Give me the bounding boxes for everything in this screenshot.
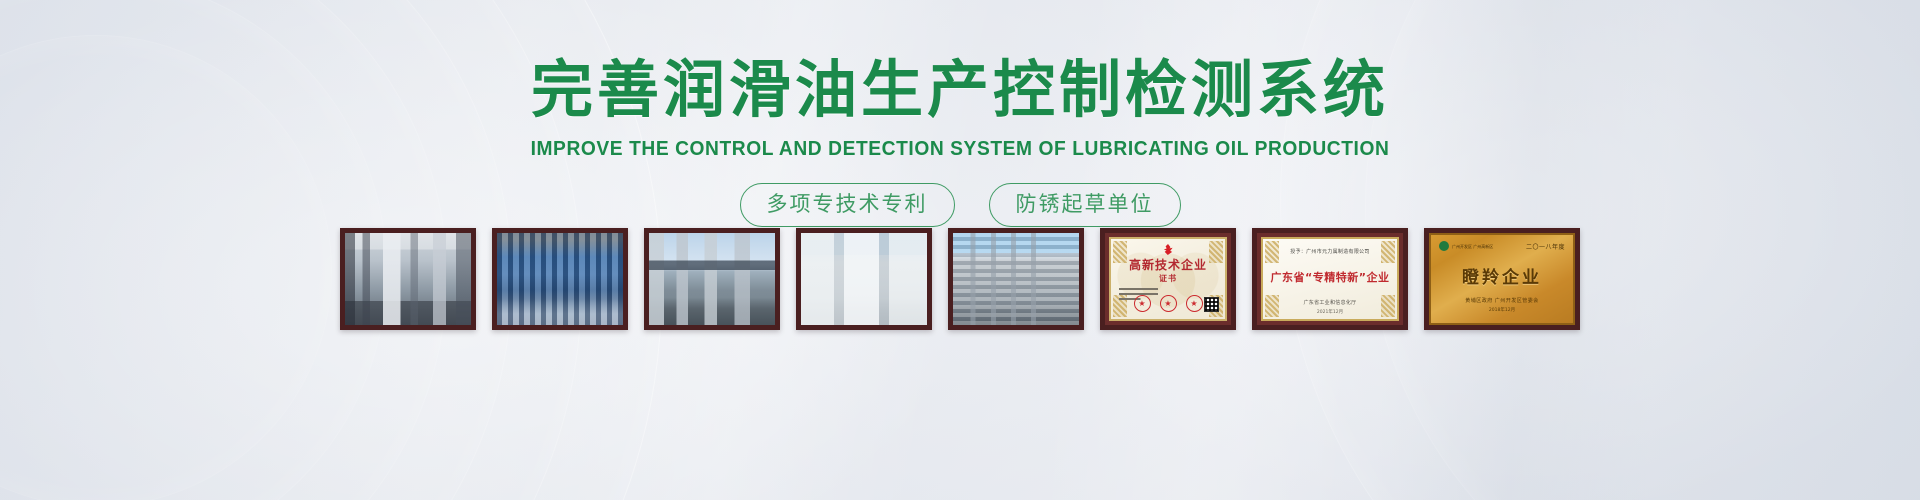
cert-corner-ornament: [1265, 295, 1279, 317]
cert-corner-ornament: [1209, 241, 1223, 263]
seal-icon: ★: [1160, 295, 1177, 312]
office-block-photo: [953, 233, 1079, 325]
plaque-issuer: 黄埔区政府 广州开发区管委会: [1465, 297, 1539, 304]
hero-banner: 完善润滑油生产控制检测系统 IMPROVE THE CONTROL AND DE…: [0, 0, 1920, 500]
certificate-title: 广东省“专精特新”企业: [1271, 269, 1390, 285]
plaque-header: 广州开发区 广州高新区 二〇一八年度: [1431, 241, 1573, 251]
white-buildings-photo: [801, 233, 927, 325]
page-title: 完善润滑油生产控制检测系统: [0, 54, 1920, 126]
plaque-logo: 广州开发区 广州高新区: [1439, 241, 1493, 251]
gallery-item-white-buildings[interactable]: [796, 228, 932, 330]
plaque-logo-text: 广州开发区 广州高新区: [1452, 244, 1493, 249]
plaque-year: 二〇一八年度: [1526, 242, 1565, 251]
gallery-item-specialized-certificate[interactable]: 授予：广州市元力属制造有限公司 广东省“专精特新”企业 广东省工业和信息化厅 2…: [1252, 228, 1408, 330]
gallery-item-gazelle-plaque[interactable]: 广州开发区 广州高新区 二〇一八年度 瞪羚企业 黄埔区政府 广州开发区管委会 2…: [1424, 228, 1580, 330]
badge-standard-drafter[interactable]: 防锈起草单位: [989, 183, 1181, 227]
seal-icon: ★: [1186, 295, 1203, 312]
certificate-title: 高新技术企业: [1129, 256, 1207, 273]
certificate-issuer: 广东省工业和信息化厅: [1303, 299, 1356, 306]
seal-icon: ★: [1134, 295, 1151, 312]
plaque-title: 瞪羚企业: [1462, 263, 1542, 288]
blue-pipework-photo: [497, 233, 623, 325]
gallery-item-office-block[interactable]: [948, 228, 1084, 330]
plaque-date: 2018年12月: [1489, 307, 1515, 313]
certificate-subtitle: 证书: [1159, 273, 1177, 284]
certificate-date: 2021年12月: [1317, 309, 1343, 315]
gallery-row: 高新技术企业 证书 ★ ★ ★: [0, 228, 1920, 330]
certificate-recipient: 授予：广州市元力属制造有限公司: [1290, 248, 1370, 255]
emblem-icon: [1439, 241, 1449, 251]
gallery-item-blue-pipework[interactable]: [492, 228, 628, 330]
plant-interior-photo: [345, 233, 471, 325]
gallery-item-plant-interior[interactable]: [340, 228, 476, 330]
flame-icon: [1163, 244, 1174, 255]
banner-content: 完善润滑油生产控制检测系统 IMPROVE THE CONTROL AND DE…: [0, 0, 1920, 500]
cert-corner-ornament: [1381, 241, 1395, 263]
gallery-item-tank-farm[interactable]: [644, 228, 780, 330]
page-subtitle: IMPROVE THE CONTROL AND DETECTION SYSTEM…: [38, 136, 1881, 162]
badge-patents[interactable]: 多项专技术专利: [740, 183, 955, 227]
badge-row: 多项专技术专利 防锈起草单位: [0, 183, 1920, 227]
high-tech-certificate: 高新技术企业 证书 ★ ★ ★: [1105, 233, 1231, 325]
cert-corner-ornament: [1113, 241, 1127, 263]
gazelle-enterprise-plaque: 广州开发区 广州高新区 二〇一八年度 瞪羚企业 黄埔区政府 广州开发区管委会 2…: [1429, 233, 1575, 325]
gallery-item-high-tech-certificate[interactable]: 高新技术企业 证书 ★ ★ ★: [1100, 228, 1236, 330]
tank-farm-photo: [649, 233, 775, 325]
specialized-enterprise-certificate: 授予：广州市元力属制造有限公司 广东省“专精特新”企业 广东省工业和信息化厅 2…: [1257, 233, 1403, 325]
qr-code-icon: [1204, 297, 1219, 312]
cert-corner-ornament: [1265, 241, 1279, 263]
cert-corner-ornament: [1381, 295, 1395, 317]
